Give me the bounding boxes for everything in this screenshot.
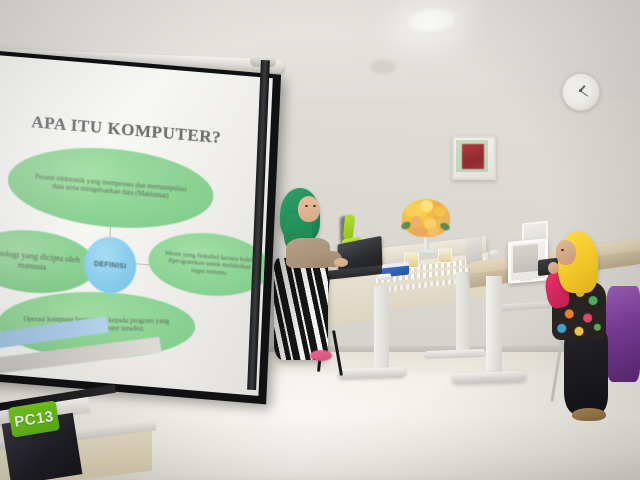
projector-screen: APA ITU KOMPUTER? Peranti elektronik yan…	[0, 54, 273, 396]
presenter-hand	[334, 258, 348, 267]
rose-petal	[406, 204, 418, 215]
classroom-photo: 1Malaysia APA ITU KOMPUTER? Peranti elek…	[0, 0, 640, 480]
glass-jar	[438, 248, 452, 263]
one-malaysia-logo: 1Malaysia	[548, 122, 582, 184]
student-eye	[561, 249, 564, 251]
screen-glare	[0, 54, 156, 396]
slide-content: APA ITU KOMPUTER? Peranti elektronik yan…	[0, 54, 273, 396]
student-shoe	[572, 408, 606, 421]
presenter-face	[298, 196, 320, 222]
presenter-eye	[305, 205, 308, 207]
rose-petal	[420, 200, 433, 212]
presenter-dress-shading	[274, 258, 328, 360]
clock-center-pin	[579, 89, 582, 92]
presenter-eye	[313, 205, 316, 207]
workstation-label-text: PC13	[13, 408, 55, 431]
student-pants	[564, 330, 608, 414]
frame-artwork-image	[462, 144, 484, 169]
monitor-display	[513, 244, 538, 273]
rose-petal	[428, 227, 439, 236]
rose-petal	[414, 226, 425, 235]
monitor-stand	[520, 273, 532, 281]
purple-backpack	[606, 286, 640, 382]
ceiling-light	[405, 8, 460, 32]
table-leg	[456, 272, 470, 354]
vase-base	[416, 250, 437, 255]
ceiling-vent	[370, 60, 396, 74]
student-hand	[548, 262, 559, 274]
student-face	[556, 240, 576, 265]
presenter-sandal	[310, 350, 332, 361]
desk-leg	[486, 276, 502, 376]
table-leg	[374, 286, 389, 372]
rose-petal	[434, 206, 446, 217]
